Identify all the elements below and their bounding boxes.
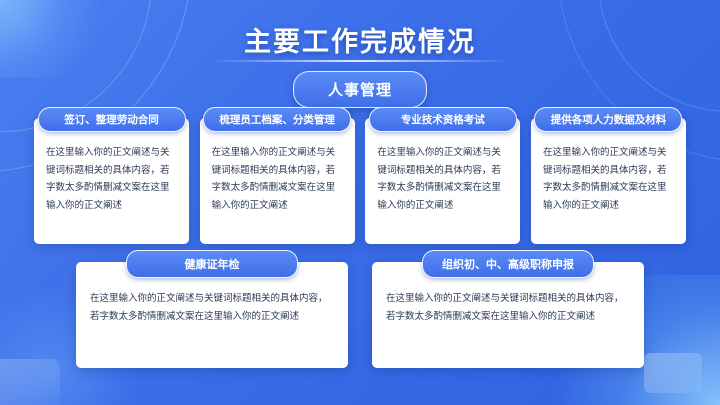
section-label-wrap: 人事管理 [293, 71, 427, 108]
bottom-card-row: 健康证年检 在这里输入你的正文阐述与关键词标题相关的具体内容，若字数太多酌情删减… [76, 262, 644, 368]
content-card: 签订、整理劳动合同 在这里输入你的正文阐述与关键词标题相关的具体内容，若字数太多… [34, 118, 189, 244]
card-heading: 组织初、中、高级职称申报 [422, 250, 594, 278]
card-body-text: 在这里输入你的正文阐述与关键词标题相关的具体内容，若字数太多酌情删减文案在这里输… [365, 118, 520, 244]
decorative-panel-bottom-right [644, 353, 702, 393]
title-underline [210, 60, 510, 62]
section-label: 人事管理 [293, 71, 427, 108]
slide-title-wrap: 主要工作完成情况 [0, 20, 720, 59]
card-heading: 专业技术资格考试 [369, 107, 517, 132]
top-card-row: 签订、整理劳动合同 在这里输入你的正文阐述与关键词标题相关的具体内容，若字数太多… [34, 118, 686, 244]
content-card: 专业技术资格考试 在这里输入你的正文阐述与关键词标题相关的具体内容，若字数太多酌… [365, 118, 520, 244]
card-body-text: 在这里输入你的正文阐述与关键词标题相关的具体内容，若字数太多酌情删减文案在这里输… [34, 118, 189, 244]
page-title: 主要工作完成情况 [244, 20, 476, 59]
content-card: 提供各项人力数据及材料 在这里输入你的正文阐述与关键词标题相关的具体内容，若字数… [531, 118, 686, 244]
card-heading: 梳理员工档案、分类管理 [203, 107, 351, 132]
card-heading: 提供各项人力数据及材料 [534, 107, 682, 132]
card-heading: 签订、整理劳动合同 [38, 107, 186, 132]
slide: 主要工作完成情况 人事管理 签订、整理劳动合同 在这里输入你的正文阐述与关键词标… [0, 0, 720, 405]
card-body-text: 在这里输入你的正文阐述与关键词标题相关的具体内容，若字数太多酌情删减文案在这里输… [200, 118, 355, 244]
card-heading: 健康证年检 [126, 250, 298, 278]
card-body-text: 在这里输入你的正文阐述与关键词标题相关的具体内容，若字数太多酌情删减文案在这里输… [531, 118, 686, 244]
decorative-panel-bottom-left [0, 359, 60, 405]
content-card: 健康证年检 在这里输入你的正文阐述与关键词标题相关的具体内容，若字数太多酌情删减… [76, 262, 348, 368]
content-card: 梳理员工档案、分类管理 在这里输入你的正文阐述与关键词标题相关的具体内容，若字数… [200, 118, 355, 244]
content-card: 组织初、中、高级职称申报 在这里输入你的正文阐述与关键词标题相关的具体内容，若字… [372, 262, 644, 368]
